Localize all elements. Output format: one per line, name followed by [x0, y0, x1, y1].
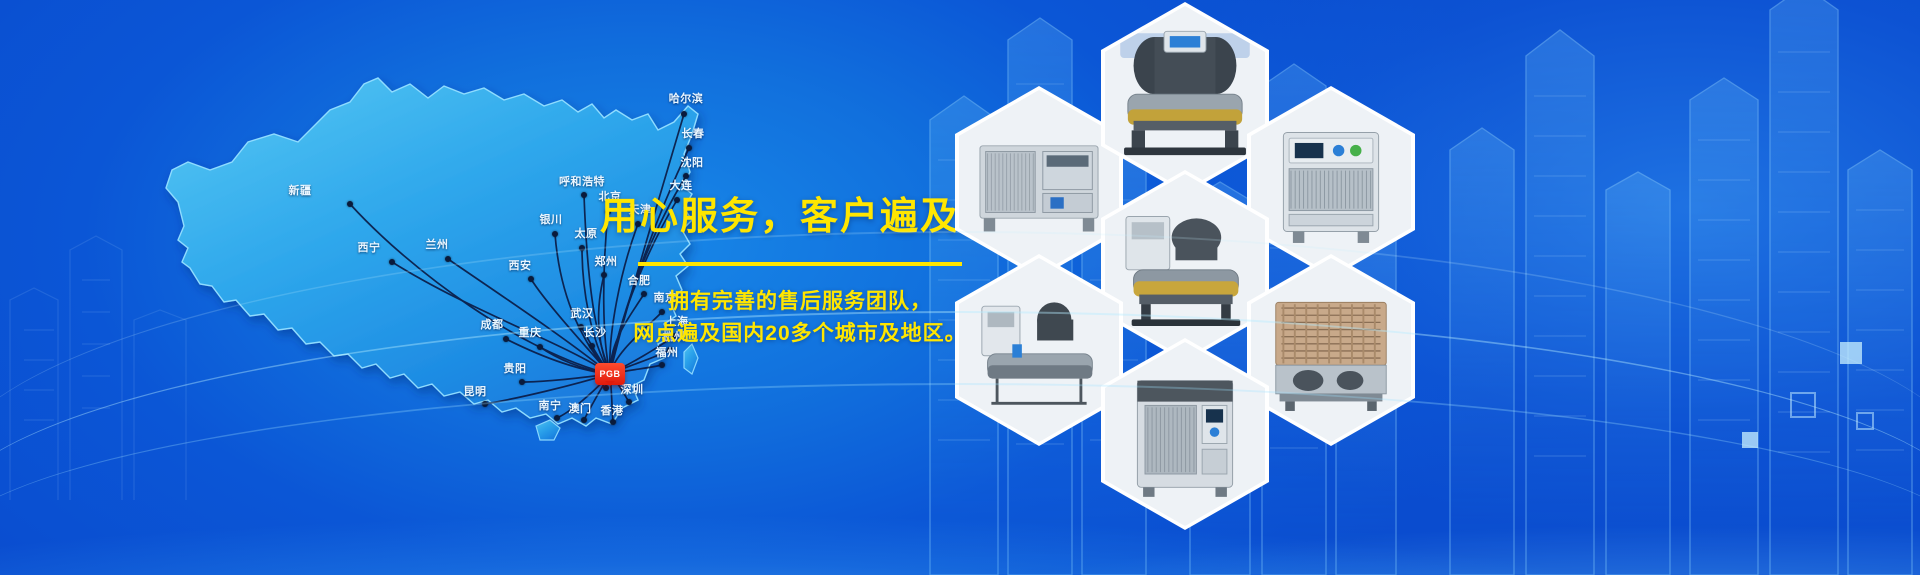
city-label: 兰州 — [426, 236, 449, 252]
city-dot[interactable] — [554, 415, 560, 421]
city-label: 武汉 — [571, 305, 594, 321]
banner-copy-block: 用心服务，客户遍及全国 拥有完善的售后服务团队， 网点遍及国内20多个城市及地区… — [600, 196, 1000, 351]
product-hex-open-frame-chiller[interactable] — [955, 254, 1123, 446]
city-label: 南宁 — [539, 397, 562, 413]
product-photo — [1251, 90, 1411, 274]
city-dot[interactable] — [482, 401, 488, 407]
headline-divider — [638, 262, 962, 266]
city-dot[interactable] — [610, 419, 616, 425]
city-dot[interactable] — [347, 201, 353, 207]
product-hex-air-cooled-box-chiller[interactable] — [955, 86, 1123, 278]
city-label: 西宁 — [358, 239, 381, 255]
city-label: 太原 — [575, 225, 598, 241]
hub-marker-badge[interactable]: PGB — [595, 363, 625, 385]
product-photo — [1105, 342, 1265, 526]
decor-square — [1742, 432, 1758, 448]
city-dot[interactable] — [528, 276, 534, 282]
city-label: 贵阳 — [504, 360, 527, 376]
city-dot[interactable] — [681, 111, 687, 117]
city-label: 沈阳 — [681, 154, 704, 170]
city-label: 哈尔滨 — [669, 90, 704, 106]
product-hex-industrial-water-chiller-unit[interactable] — [1247, 86, 1415, 278]
product-photo-honeycomb — [955, 0, 1515, 575]
city-label: 新疆 — [289, 182, 312, 198]
city-label: 银川 — [540, 211, 563, 227]
city-dot[interactable] — [589, 343, 595, 349]
product-photo — [1105, 174, 1265, 358]
promo-banner: 新疆呼和浩特北京天津大连哈尔滨长春沈阳银川太原西宁兰州郑州西安合肥南京武汉长沙成… — [0, 0, 1920, 575]
decor-square — [1790, 392, 1816, 418]
city-label: 西安 — [509, 257, 532, 273]
city-label: 昆明 — [464, 383, 487, 399]
product-photo — [1105, 6, 1265, 190]
banner-subtitle-line2: 网点遍及国内20多个城市及地区。 — [600, 318, 1000, 351]
product-photo — [959, 258, 1119, 442]
city-label: 呼和浩特 — [559, 173, 605, 189]
city-label: 大连 — [670, 177, 693, 193]
city-dot[interactable] — [552, 231, 558, 237]
city-dot[interactable] — [626, 399, 632, 405]
city-label: 长春 — [682, 125, 705, 141]
decor-square — [1840, 342, 1862, 364]
product-photo — [959, 90, 1119, 274]
banner-subtitle-line1: 拥有完善的售后服务团队， — [600, 286, 1000, 319]
city-label: 澳门 — [569, 400, 592, 416]
city-dot[interactable] — [581, 417, 587, 423]
city-dot[interactable] — [686, 145, 692, 151]
city-label: 重庆 — [519, 324, 542, 340]
product-hex-condenser-coil-chiller[interactable] — [1247, 254, 1415, 446]
city-dot[interactable] — [519, 379, 525, 385]
city-dot[interactable] — [445, 256, 451, 262]
product-photo — [1251, 258, 1411, 442]
city-label: 成都 — [481, 316, 504, 332]
city-label: 香港 — [601, 402, 624, 418]
product-hex-screw-compressor-unit[interactable] — [1101, 170, 1269, 362]
city-dot[interactable] — [389, 259, 395, 265]
city-dot[interactable] — [683, 173, 689, 179]
city-dot[interactable] — [503, 336, 509, 342]
banner-subtitle: 拥有完善的售后服务团队， 网点遍及国内20多个城市及地区。 — [600, 286, 1000, 351]
banner-headline: 用心服务，客户遍及全国 — [600, 196, 1000, 240]
city-dot[interactable] — [579, 245, 585, 251]
product-hex-cabinet-water-chiller[interactable] — [1101, 338, 1269, 530]
city-dot[interactable] — [537, 344, 543, 350]
decor-square — [1856, 412, 1874, 430]
city-dot[interactable] — [581, 192, 587, 198]
city-dot[interactable] — [659, 362, 665, 368]
product-hex-water-cooled-screw-chiller[interactable] — [1101, 2, 1269, 194]
